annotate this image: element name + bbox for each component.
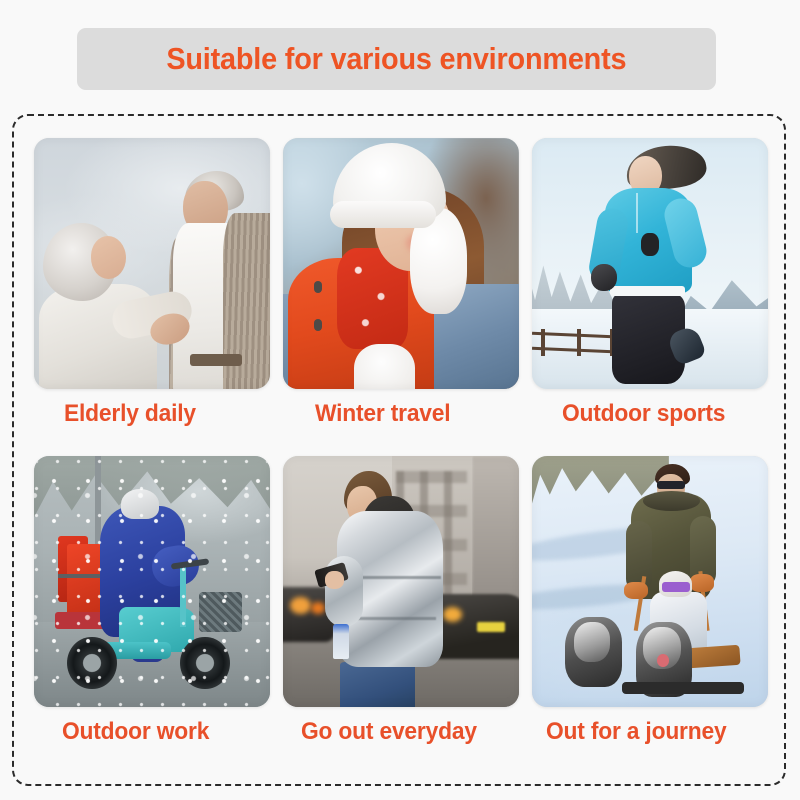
scenario-grid: Elderly daily Winter travel [34, 138, 768, 766]
scenario-card-elderly-daily[interactable]: Elderly daily [34, 138, 270, 448]
scenario-caption: Elderly daily [64, 400, 260, 428]
sunglasses [657, 481, 685, 489]
husky-left-head [574, 622, 609, 662]
vest-button-bottom [314, 319, 322, 331]
scenario-image-outdoor-sports [532, 138, 768, 389]
scenario-caption: Winter travel [315, 400, 509, 428]
header-banner: Suitable for various environments [77, 28, 716, 90]
scenario-image-elderly-daily [34, 138, 270, 389]
child-sunglasses [662, 582, 690, 592]
page-title: Suitable for various environments [166, 41, 626, 77]
blue-jeans [340, 662, 416, 707]
man-belt [190, 354, 242, 367]
black-glove [591, 264, 617, 292]
water-bottle [333, 624, 350, 659]
building-far [472, 456, 519, 612]
jacket-hem [610, 286, 686, 296]
scenario-image-outdoor-work [34, 456, 270, 707]
woman-face [91, 236, 126, 279]
man-arm-left [626, 521, 652, 591]
jacket-zipper [636, 193, 638, 233]
parka-fur-collar [643, 491, 700, 511]
orange-glove-left [624, 582, 648, 600]
scenario-caption: Out for a journey [546, 718, 757, 746]
scenario-card-outdoor-work[interactable]: Outdoor work [34, 456, 270, 766]
woman-hand [325, 571, 344, 589]
scenario-card-go-out-everyday[interactable]: Go out everyday [283, 456, 519, 766]
vest-button-top [314, 281, 322, 293]
tail-light [443, 607, 462, 622]
husky-tongue [657, 654, 669, 667]
jacket-pocket [641, 233, 660, 256]
scenario-image-out-for-a-journey [532, 456, 768, 707]
scenario-caption: Outdoor work [62, 718, 260, 746]
scenario-card-winter-travel[interactable]: Winter travel [283, 138, 519, 448]
sled-rail [622, 682, 745, 695]
fence-post [577, 329, 581, 357]
license-plate [477, 622, 505, 632]
fence-post [541, 329, 545, 357]
scenario-caption: Outdoor sports [562, 400, 758, 428]
white-mitten-lower [354, 344, 415, 389]
scenario-image-go-out-everyday [283, 456, 519, 707]
knit-hat-brim [330, 201, 436, 229]
scenario-card-outdoor-sports[interactable]: Outdoor sports [532, 138, 768, 448]
scenario-image-winter-travel [283, 138, 519, 389]
orange-glove-right [690, 574, 714, 592]
scenario-caption: Go out everyday [301, 718, 508, 746]
scenario-card-out-for-a-journey[interactable]: Out for a journey [532, 456, 768, 766]
falling-snow [34, 456, 270, 707]
